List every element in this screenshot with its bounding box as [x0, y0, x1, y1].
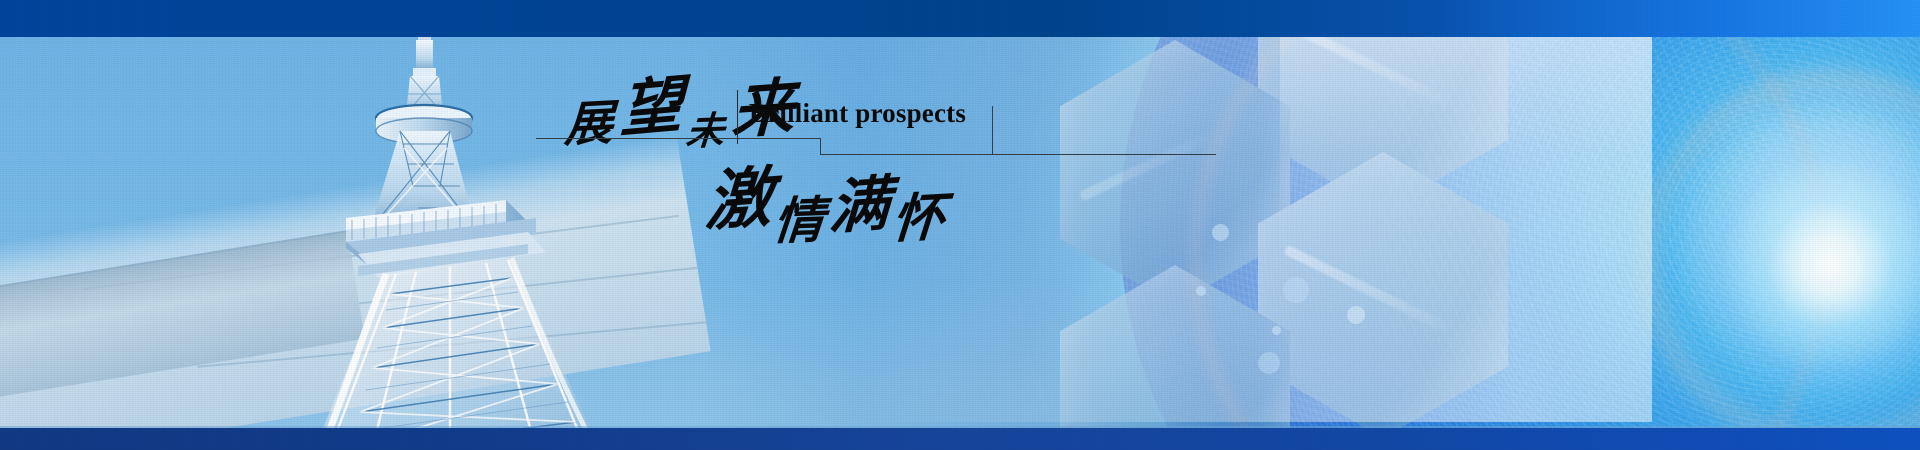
- promo-banner: 展望未来 Brilliant prospects 激情满怀: [0, 0, 1920, 450]
- top-band-right-glow: [1430, 0, 1920, 37]
- decorative-rule-right: [992, 154, 1216, 155]
- headline-char: 激: [703, 144, 778, 245]
- headline-char: 望: [619, 53, 689, 149]
- headline-char: 展: [563, 83, 621, 156]
- headline-char: 情: [771, 180, 832, 254]
- decorative-rule-step-right: [992, 106, 993, 155]
- headline-block: 展望未来 Brilliant prospects 激情满怀: [536, 62, 1236, 222]
- headline-chinese-secondary: 激情满怀: [700, 150, 956, 246]
- headline-char: 怀: [890, 175, 952, 253]
- headline-vertical-divider: [737, 90, 738, 144]
- headline-char: 满: [827, 155, 896, 246]
- decorative-rule-left: [536, 138, 821, 139]
- white-overlay-fade: [1280, 37, 1652, 422]
- bottom-navy-band: [0, 428, 1920, 450]
- headline-english: Brilliant prospects: [749, 98, 966, 129]
